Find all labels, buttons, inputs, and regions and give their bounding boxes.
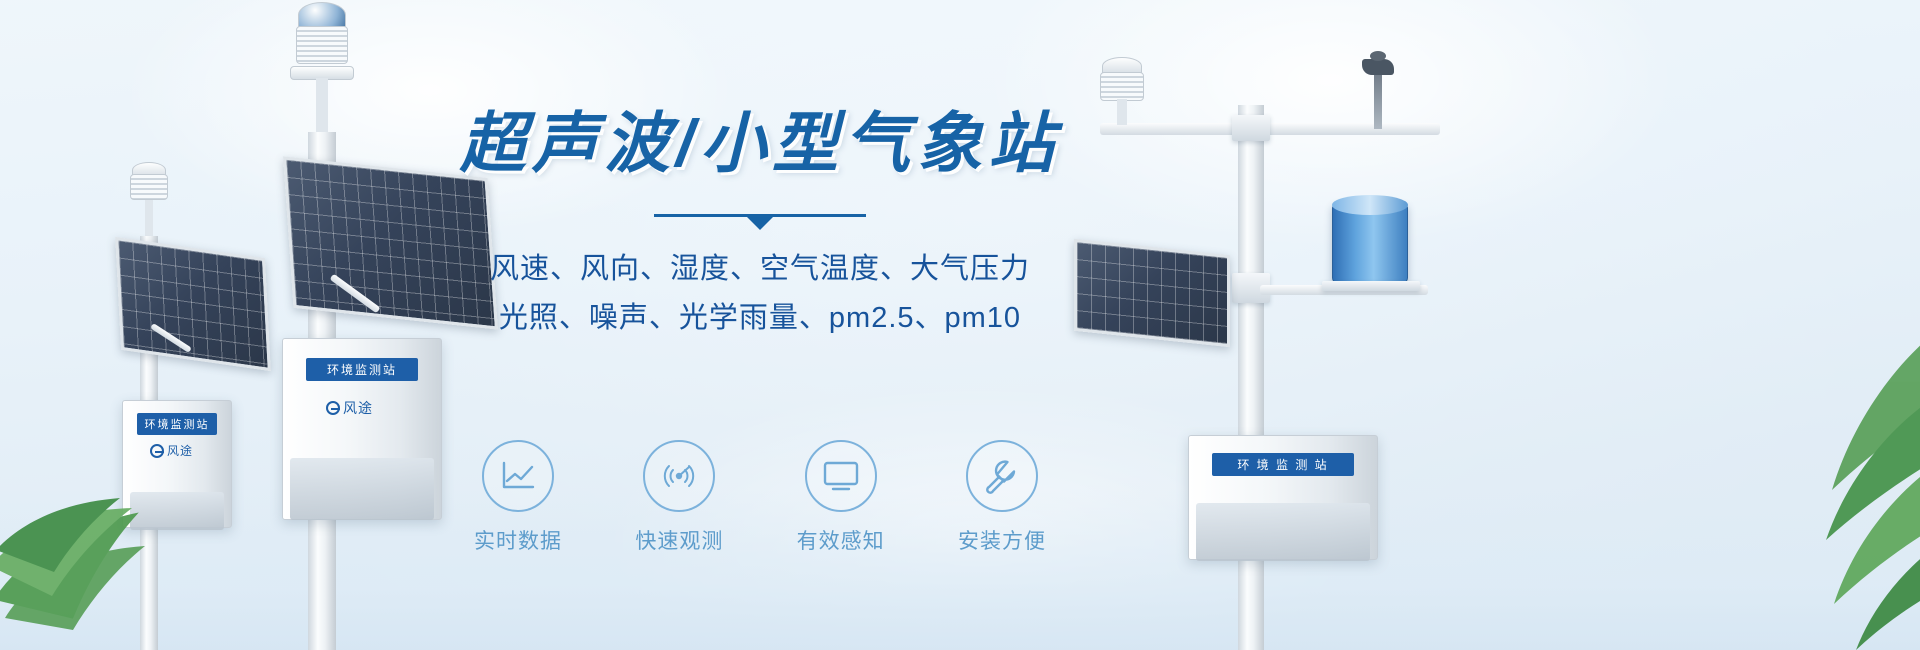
divider: [654, 214, 866, 230]
feature-label: 快速观测: [613, 525, 745, 555]
line-chart-icon: [499, 459, 537, 493]
ultrasonic-sensor-head: [1100, 67, 1144, 101]
leaf-decoration-right: [1690, 290, 1920, 650]
wind-vane-icon: [1360, 57, 1396, 127]
brand-mark-icon: [326, 401, 340, 415]
radar-signal-icon: [659, 456, 699, 496]
brand-logo: 风途: [326, 398, 373, 418]
wrench-icon: [983, 457, 1021, 495]
feature-label: 有效感知: [775, 525, 907, 555]
sensor-stem: [145, 200, 153, 240]
weather-station-right: 环 境 监 测 站: [1060, 45, 1480, 650]
feature-item-fast-observation[interactable]: 快速观测: [613, 440, 745, 555]
rain-gauge-top: [1332, 195, 1408, 215]
feature-item-effective-sensing[interactable]: 有效感知: [775, 440, 907, 555]
page-title: 超声波/小型气象站: [450, 110, 1070, 176]
feature-icon-circle: [643, 440, 715, 512]
solar-panel: [1074, 239, 1230, 347]
mounting-pole: [1238, 105, 1264, 650]
feature-list: 实时数据 快速观测 有效感知: [452, 440, 1068, 555]
cabinet-label: 环境监测站: [306, 358, 418, 381]
cabinet-label: 环 境 监 测 站: [1212, 453, 1354, 476]
optical-rain-gauge: [1332, 203, 1408, 283]
rain-gauge-platform: [1322, 281, 1420, 291]
subtitle-line-2: 光照、噪声、光学雨量、pm2.5、pm10: [450, 295, 1070, 342]
cabinet-base: [290, 458, 434, 520]
sensor-stem: [316, 78, 328, 138]
ultrasonic-sensor-head: [130, 170, 168, 202]
pole-joint: [1232, 115, 1270, 141]
feature-icon-circle: [482, 440, 554, 512]
sensor-dome: [298, 2, 346, 28]
feature-icon-circle: [966, 440, 1038, 512]
feature-label: 安装方便: [936, 525, 1068, 555]
feature-item-realtime-data[interactable]: 实时数据: [452, 440, 584, 555]
brand-name: 风途: [343, 398, 373, 418]
subtitle-line-1: 风速、风向、湿度、空气温度、大气压力: [450, 246, 1070, 293]
ultrasonic-sensor-head: [296, 20, 348, 64]
banner-text-block: 超声波/小型气象站 风速、风向、湿度、空气温度、大气压力 光照、噪声、光学雨量、…: [450, 110, 1070, 342]
sensor-stem: [1117, 99, 1127, 125]
divider-triangle-icon: [747, 217, 773, 230]
feature-item-easy-installation[interactable]: 安装方便: [936, 440, 1068, 555]
product-banner: 环境监测站 风途 环境监测站 风途: [0, 0, 1920, 650]
feature-icon-circle: [805, 440, 877, 512]
feature-label: 实时数据: [452, 525, 584, 555]
cabinet-base: [1196, 503, 1370, 561]
monitor-screen-icon: [821, 459, 861, 493]
leaf-decoration-left: [0, 330, 200, 650]
